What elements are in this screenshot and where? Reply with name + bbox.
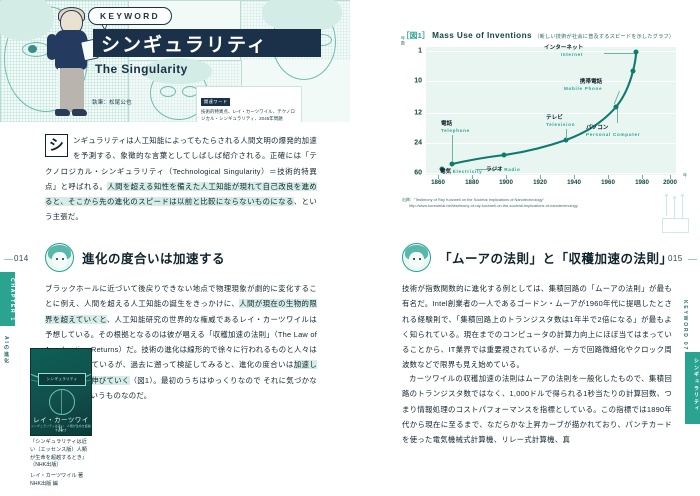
- chapter-tab: CHAPTER 1: [0, 272, 15, 326]
- chart-figure-number: ［図1］: [402, 31, 430, 40]
- data-point-mobile-phone: [631, 69, 636, 74]
- xtick-4: 1940: [567, 179, 581, 186]
- keyword-title-bar: シンギュラリティ: [93, 29, 321, 57]
- book-cover-band: シンギュラリティ: [39, 374, 85, 385]
- folio-left: 014: [14, 254, 29, 263]
- page-title-en: The Singularity: [95, 62, 188, 76]
- chart-source-title: "Testimony of Ray Kurzweil on the Societ…: [414, 197, 544, 202]
- ytick-0: 1: [418, 48, 422, 55]
- keyword-tab: シンギュラリティ: [685, 352, 700, 424]
- keyword-tab-label: KEYWORD 07: [682, 300, 688, 351]
- chart-plot-area: 1 10 12 24 60 電: [426, 47, 676, 175]
- related-words-box: 関連ワード 技術的特異点、レイ・カーツワイル、テクノロジカル・シンギュラリティ、…: [196, 86, 302, 122]
- left-page: KEYWORD シンギュラリティ The Singularity 執筆：松尾公也…: [0, 0, 350, 496]
- section-title-left: 進化の度合いは加速する: [82, 248, 225, 267]
- chart-title-row: ［図1］ Mass Use of Inventions （新しい技術が社会に普及…: [402, 30, 688, 41]
- drop-cap: シ: [45, 134, 68, 157]
- section-body-right-p2: カーツワイルの収穫加速の法則はムーアの法則を一般化したもので、集積回路のトランジ…: [402, 371, 672, 447]
- illustration-figure: [46, 10, 98, 122]
- chart-title: Mass Use of Inventions: [432, 31, 532, 40]
- label-electricity: 電気 Electricity: [440, 169, 482, 176]
- data-point-internet: [634, 50, 639, 55]
- chart-source-url: http://www.kurzweilai.net/testimony-of-r…: [409, 203, 578, 208]
- label-telephone: 電話Telephone: [441, 121, 470, 134]
- book-cover-image: シンギュラリティ レイ・カーツワイル シンギュラリティは近い 人類が生命を超越す…: [30, 348, 92, 436]
- ytick-1: 10: [414, 78, 422, 85]
- label-radio: ラジオ Radio: [486, 167, 521, 174]
- chart-source: 出典："Testimony of Ray Kurzweil on the Soc…: [402, 197, 688, 209]
- keyword-badge: KEYWORD: [88, 7, 172, 25]
- book-thumbnail: シンギュラリティ レイ・カーツワイル シンギュラリティは近い 人類が生命を超越す…: [30, 348, 90, 489]
- chart-curve: [426, 47, 676, 175]
- lead-paragraph: シンギュラリティは人工知能によってもたらされる人間文明の爆発的加速を予測する、象…: [45, 133, 317, 225]
- data-point-radio: [502, 153, 507, 158]
- page-title: シンギュラリティ: [101, 30, 268, 57]
- avatar-icon-right: [402, 243, 431, 272]
- xtick-5: 1960: [601, 179, 615, 186]
- section-body-right-p1: 技術が指数関数的に進化する例としては、集積回路の「ムーアの法則」が最も有名だ。I…: [402, 281, 672, 373]
- ytick-3: 24: [414, 140, 422, 147]
- section-title-right: 「ムーアの法則」と「収穫加速の法則」: [439, 248, 673, 267]
- chart-subtitle: （新しい技術が社会に普及するスピードを示したグラフ）: [534, 34, 674, 40]
- avatar-icon: [45, 243, 74, 272]
- folio-right: 015: [668, 254, 683, 263]
- book-cover-subtitle: シンギュラリティは近い 人類が生命を超越するとき: [31, 424, 91, 432]
- xtick-1: 1880: [465, 179, 479, 186]
- chapter-topic-label: AIの進化: [3, 336, 10, 365]
- section-heading-left: 進化の度合いは加速する: [45, 243, 225, 272]
- related-words-label: 関連ワード: [201, 98, 230, 106]
- xtick-3: 1920: [533, 179, 547, 186]
- label-personal-computer: パソコンPersonal Computer: [586, 125, 640, 138]
- related-words-text: 技術的特異点、レイ・カーツワイル、テクノロジカル・シンギュラリティ、2045年問…: [201, 108, 297, 122]
- xtick-2: 1900: [499, 179, 513, 186]
- byline: 執筆：松尾公也: [92, 98, 132, 106]
- chart-figure: ［図1］ Mass Use of Inventions （新しい技術が社会に普及…: [402, 30, 688, 209]
- label-internet: インターネットInternet: [544, 45, 583, 58]
- book-caption-credit: レイ・カーツワイル 著 NHK出版 編: [30, 473, 90, 489]
- book-caption: 『シンギュラリティは近い〔エッセンス版〕人類が生命を超越するとき』（NHK出版）: [30, 439, 90, 470]
- label-mobile-phone: 携帯電話Mobile Phone: [564, 79, 602, 92]
- chapter-tab-label: CHAPTER 1: [0, 272, 15, 322]
- label-television: テレビTelevision: [546, 115, 575, 128]
- xtick-6: 1980: [635, 179, 649, 186]
- section-heading-right: 「ムーアの法則」と「収穫加速の法則」: [402, 243, 673, 272]
- data-point-telephone: [450, 162, 455, 167]
- ytick-4: 60: [414, 170, 422, 177]
- hero-illustration: KEYWORD シンギュラリティ The Singularity 執筆：松尾公也…: [0, 0, 350, 122]
- chart-xlabel: 年: [682, 173, 688, 178]
- book-spread: KEYWORD シンギュラリティ The Singularity 執筆：松尾公也…: [0, 0, 700, 496]
- chart-ylabel: 年数: [400, 36, 406, 45]
- xtick-0: 1860: [431, 179, 445, 186]
- xtick-7: 2000: [663, 179, 677, 186]
- ytick-2: 12: [414, 110, 422, 117]
- chart-source-label: 出典：: [402, 197, 414, 202]
- keyword-tab-topic: シンギュラリティ: [685, 352, 700, 412]
